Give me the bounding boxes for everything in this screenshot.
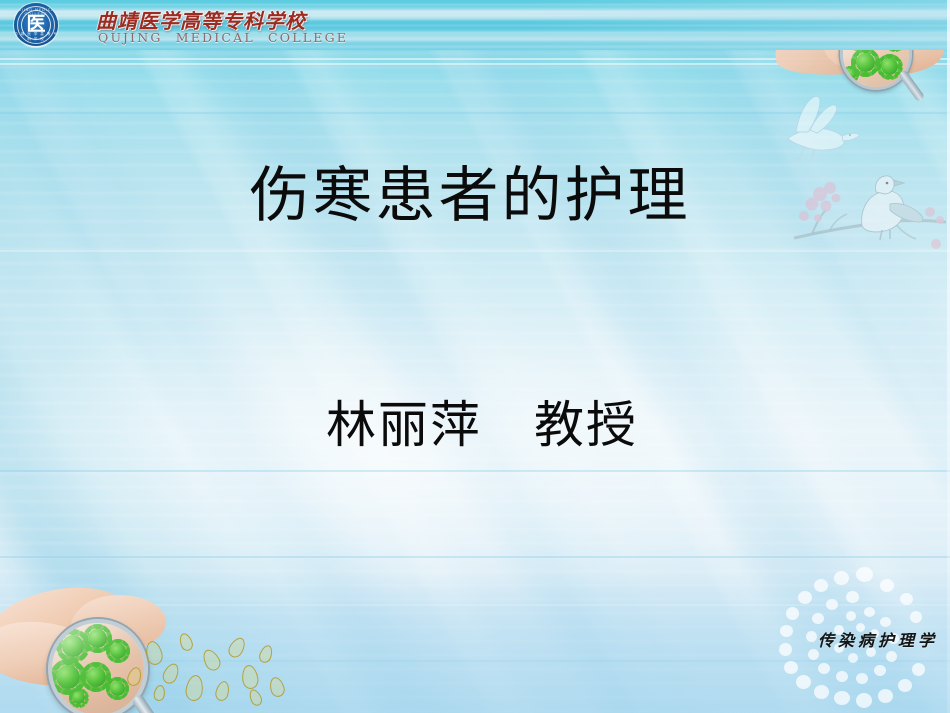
college-name-english: QUJING MEDICAL COLLEGE <box>98 30 348 45</box>
college-seal-icon: QUJING MEDICAL COLLEGE 医 曲 靖 医 学 高 等 专 科… <box>14 3 58 47</box>
slide-subtitle: 林丽萍 教授 <box>0 398 950 453</box>
watermark-text: 传染病护理学 <box>818 627 938 651</box>
slide-title: 伤寒患者的护理 <box>0 165 950 228</box>
bacteria-scatter-illustration <box>120 623 300 713</box>
seal-arc-bottom-text: 曲 靖 医 学 高 等 专 科 学 校 <box>14 32 58 42</box>
flying-bird-icon <box>770 86 866 164</box>
course-watermark: 传染病护理学 <box>760 553 950 713</box>
presentation-slide: QUJING MEDICAL COLLEGE 医 曲 靖 医 学 高 等 专 科… <box>0 0 950 713</box>
